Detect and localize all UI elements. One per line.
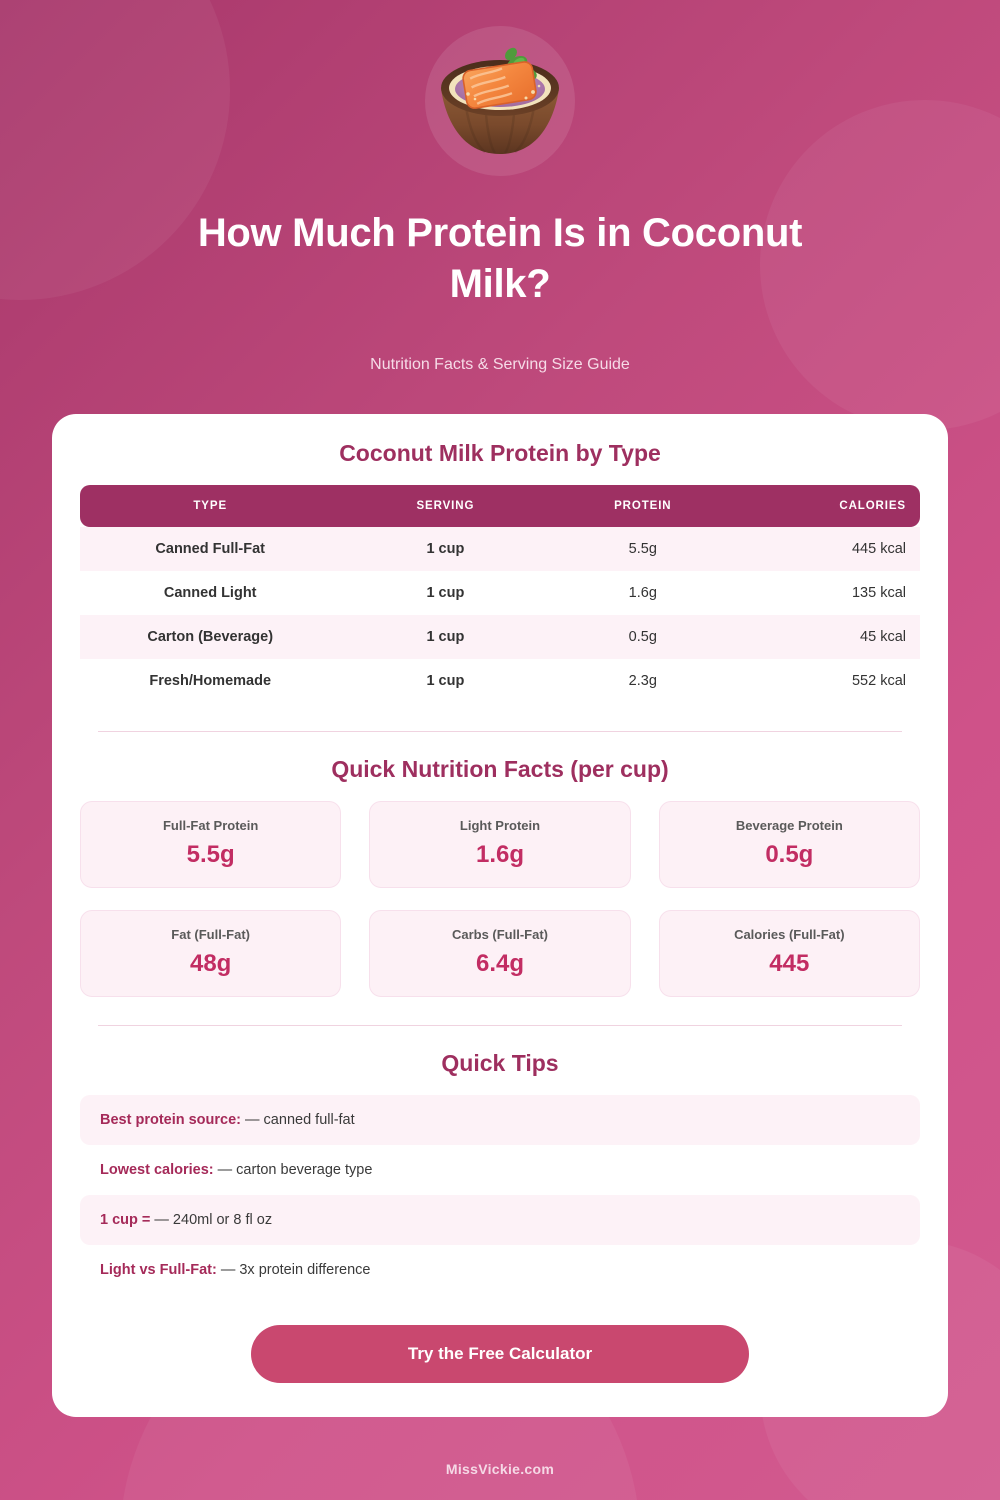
cell-type: Canned Light bbox=[80, 571, 340, 615]
cell-calories: 552 kcal bbox=[735, 659, 920, 703]
tip-item: Best protein source: — canned full-fat bbox=[80, 1095, 920, 1145]
table-header: TYPE SERVING PROTEIN CALORIES bbox=[80, 485, 920, 527]
stat-value: 445 bbox=[670, 950, 909, 978]
tip-label: Best protein source: bbox=[100, 1112, 241, 1128]
tip-label: 1 cup = bbox=[100, 1212, 150, 1228]
facts-section-title: Quick Nutrition Facts (per cup) bbox=[80, 756, 920, 783]
footer-brand: MissVickie.com bbox=[0, 1461, 1000, 1477]
hero-image bbox=[425, 26, 575, 176]
cell-calories: 135 kcal bbox=[735, 571, 920, 615]
tip-item: 1 cup = — 240ml or 8 fl oz bbox=[80, 1195, 920, 1245]
tip-text: — 240ml or 8 fl oz bbox=[154, 1212, 272, 1228]
cell-protein: 0.5g bbox=[550, 615, 735, 659]
column-header-serving: SERVING bbox=[340, 485, 550, 527]
protein-table: TYPE SERVING PROTEIN CALORIES Canned Ful… bbox=[80, 485, 920, 703]
stat-card: Beverage Protein 0.5g bbox=[659, 801, 920, 888]
cell-protein: 1.6g bbox=[550, 571, 735, 615]
stat-label: Light Protein bbox=[380, 818, 619, 833]
tips-section-title: Quick Tips bbox=[80, 1050, 920, 1077]
stat-label: Beverage Protein bbox=[670, 818, 909, 833]
tip-label: Lowest calories: bbox=[100, 1162, 214, 1178]
cell-calories: 445 kcal bbox=[735, 527, 920, 571]
tip-text: — canned full-fat bbox=[245, 1112, 355, 1128]
tip-text: — 3x protein difference bbox=[221, 1262, 371, 1278]
stat-label: Full-Fat Protein bbox=[91, 818, 330, 833]
stat-card: Calories (Full-Fat) 445 bbox=[659, 910, 920, 997]
stat-value: 6.4g bbox=[380, 950, 619, 978]
tips-list: Best protein source: — canned full-fat L… bbox=[80, 1095, 920, 1295]
stat-value: 0.5g bbox=[670, 841, 909, 869]
table-section-title: Coconut Milk Protein by Type bbox=[80, 440, 920, 467]
section-divider bbox=[98, 731, 902, 732]
cell-type: Carton (Beverage) bbox=[80, 615, 340, 659]
column-header-type: TYPE bbox=[80, 485, 340, 527]
stat-card: Fat (Full-Fat) 48g bbox=[80, 910, 341, 997]
tip-item: Lowest calories: — carton beverage type bbox=[80, 1145, 920, 1195]
column-header-protein: PROTEIN bbox=[550, 485, 735, 527]
section-divider bbox=[98, 1025, 902, 1026]
coconut-bowl-icon bbox=[425, 26, 575, 176]
column-header-calories: CALORIES bbox=[735, 485, 920, 527]
table-row: Canned Light 1 cup 1.6g 135 kcal bbox=[80, 571, 920, 615]
cell-protein: 5.5g bbox=[550, 527, 735, 571]
stats-grid: Full-Fat Protein 5.5g Light Protein 1.6g… bbox=[80, 801, 920, 997]
tip-label: Light vs Full-Fat: bbox=[100, 1262, 217, 1278]
infographic-page: How Much Protein Is in Coconut Milk? Nut… bbox=[0, 0, 1000, 1500]
stat-label: Calories (Full-Fat) bbox=[670, 927, 909, 942]
cell-serving: 1 cup bbox=[340, 527, 550, 571]
hero-section: How Much Protein Is in Coconut Milk? Nut… bbox=[0, 0, 1000, 374]
stat-card: Carbs (Full-Fat) 6.4g bbox=[369, 910, 630, 997]
tip-item: Light vs Full-Fat: — 3x protein differen… bbox=[80, 1245, 920, 1295]
cell-serving: 1 cup bbox=[340, 659, 550, 703]
stat-card: Full-Fat Protein 5.5g bbox=[80, 801, 341, 888]
cell-calories: 45 kcal bbox=[735, 615, 920, 659]
content-card: Coconut Milk Protein by Type TYPE SERVIN… bbox=[52, 414, 948, 1417]
table-row: Canned Full-Fat 1 cup 5.5g 445 kcal bbox=[80, 527, 920, 571]
stat-label: Carbs (Full-Fat) bbox=[380, 927, 619, 942]
table-row: Fresh/Homemade 1 cup 2.3g 552 kcal bbox=[80, 659, 920, 703]
cell-serving: 1 cup bbox=[340, 571, 550, 615]
page-title: How Much Protein Is in Coconut Milk? bbox=[150, 208, 850, 310]
tip-text: — carton beverage type bbox=[218, 1162, 373, 1178]
cta-container: Try the Free Calculator bbox=[80, 1325, 920, 1383]
cell-protein: 2.3g bbox=[550, 659, 735, 703]
stat-value: 5.5g bbox=[91, 841, 330, 869]
stat-label: Fat (Full-Fat) bbox=[91, 927, 330, 942]
table-row: Carton (Beverage) 1 cup 0.5g 45 kcal bbox=[80, 615, 920, 659]
cell-serving: 1 cup bbox=[340, 615, 550, 659]
stat-card: Light Protein 1.6g bbox=[369, 801, 630, 888]
try-calculator-button[interactable]: Try the Free Calculator bbox=[251, 1325, 749, 1383]
stat-value: 48g bbox=[91, 950, 330, 978]
page-subtitle: Nutrition Facts & Serving Size Guide bbox=[0, 356, 1000, 374]
cell-type: Fresh/Homemade bbox=[80, 659, 340, 703]
cell-type: Canned Full-Fat bbox=[80, 527, 340, 571]
table-header-row: TYPE SERVING PROTEIN CALORIES bbox=[80, 485, 920, 527]
stat-value: 1.6g bbox=[380, 841, 619, 869]
table-body: Canned Full-Fat 1 cup 5.5g 445 kcal Cann… bbox=[80, 527, 920, 703]
